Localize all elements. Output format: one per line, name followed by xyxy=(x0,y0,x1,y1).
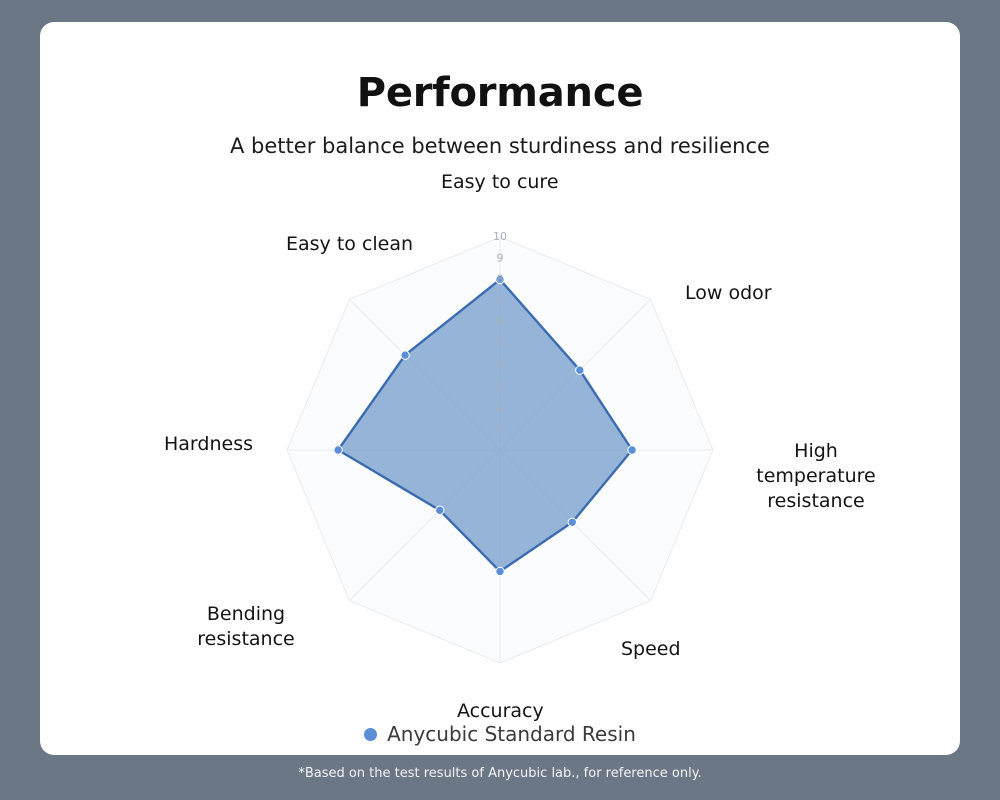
radar-axis-label: Easy to clean xyxy=(286,232,413,257)
radar-tick-label: 10 xyxy=(493,230,507,243)
radar-tick-label: 2 xyxy=(497,400,504,413)
radar-data-point[interactable] xyxy=(496,567,504,575)
radar-axis-label: High temperature resistance xyxy=(751,439,881,514)
radar-tick-label: 9 xyxy=(497,251,504,264)
radar-axis-label: Bending resistance xyxy=(181,602,311,652)
legend-marker-icon xyxy=(364,728,377,741)
radar-data-point[interactable] xyxy=(576,366,584,374)
screenshot-root: Performance A better balance between stu… xyxy=(0,0,1000,800)
radar-tick-label: 7 xyxy=(497,294,504,307)
chart-legend[interactable]: Anycubic Standard Resin xyxy=(40,722,960,746)
radar-svg: 12345678910 xyxy=(40,22,960,755)
radar-chart: 12345678910 Easy to cureLow odorHigh tem… xyxy=(40,22,960,755)
radar-data-point[interactable] xyxy=(401,351,409,359)
legend-series-label: Anycubic Standard Resin xyxy=(387,722,636,746)
radar-axis-label: Accuracy xyxy=(457,699,544,724)
radar-axis-label: Low odor xyxy=(685,281,772,306)
radar-data-point[interactable] xyxy=(334,446,342,454)
radar-tick-label: 5 xyxy=(497,337,504,350)
radar-tick-label: 6 xyxy=(497,315,504,328)
radar-data-point[interactable] xyxy=(628,446,636,454)
footnote-text: *Based on the test results of Anycubic l… xyxy=(0,766,1000,781)
radar-axis-label: Speed xyxy=(621,637,681,662)
chart-card: Performance A better balance between stu… xyxy=(40,22,960,755)
radar-axis-label: Hardness xyxy=(164,432,253,457)
radar-tick-label: 8 xyxy=(497,273,504,286)
radar-data-point[interactable] xyxy=(568,518,576,526)
radar-tick-label: 3 xyxy=(497,379,504,392)
radar-tick-label: 1 xyxy=(497,422,504,435)
radar-data-point[interactable] xyxy=(436,506,444,514)
radar-tick-label: 4 xyxy=(497,358,504,371)
radar-axis-label: Easy to cure xyxy=(441,170,559,195)
